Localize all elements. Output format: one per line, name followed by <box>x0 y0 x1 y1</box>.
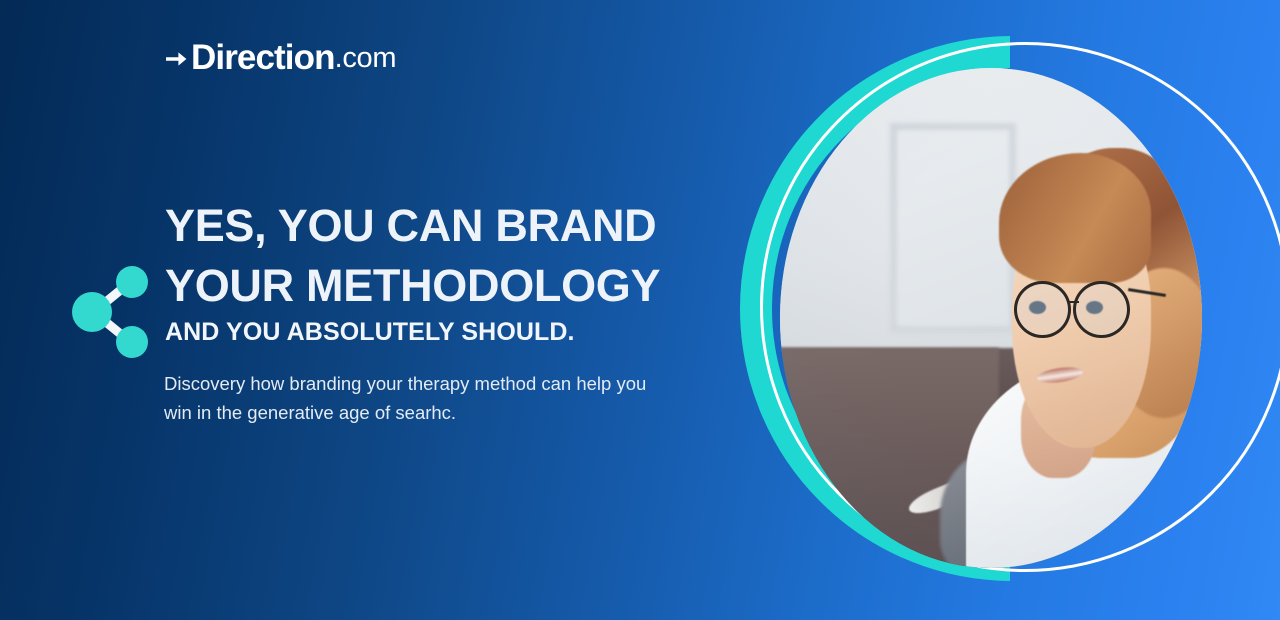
logo-tld: .com <box>335 44 397 73</box>
portrait-photo <box>780 68 1202 568</box>
page-title: YES, YOU CAN BRAND YOUR METHODOLOGY <box>165 196 785 316</box>
share-network-icon <box>62 262 158 362</box>
arrow-right-icon <box>163 46 189 72</box>
hero-visual <box>700 0 1280 620</box>
body-copy: Discovery how branding your therapy meth… <box>164 370 664 427</box>
promo-banner: Direction .com YES, YOU CAN BRAND YOUR M… <box>0 0 1280 620</box>
site-logo[interactable]: Direction .com <box>163 40 396 75</box>
page-subtitle: AND YOU ABSOLUTELY SHOULD. <box>165 318 575 347</box>
logo-name: Direction <box>191 40 335 75</box>
